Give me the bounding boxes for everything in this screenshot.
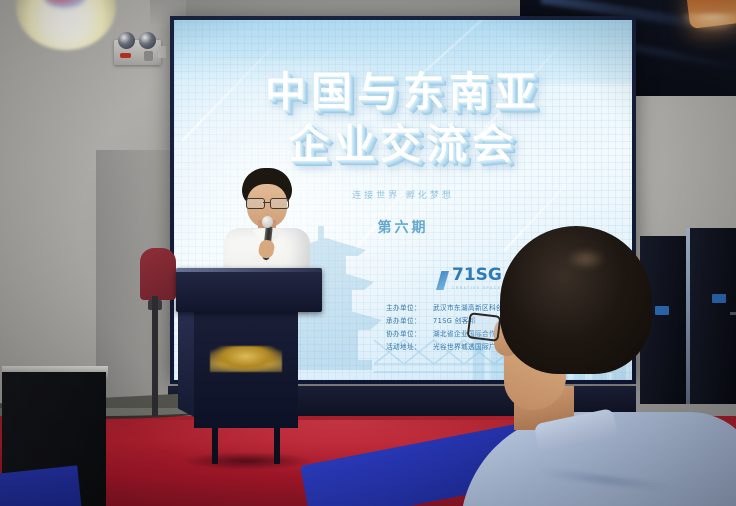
track-light-indicator	[120, 53, 131, 58]
track-light-mount	[158, 46, 166, 58]
track-light-head-right	[139, 32, 156, 49]
speaker-lens-left	[246, 198, 265, 209]
podium-leg	[212, 428, 218, 464]
track-light-button	[144, 51, 153, 61]
chair-maroon-left	[140, 248, 176, 300]
podium-desktop-highlight	[176, 268, 322, 272]
podium-leg	[274, 428, 280, 464]
chair-maroon-stem	[152, 296, 158, 416]
slide-title-line-1: 中国与东南亚	[174, 72, 632, 114]
slide-info-key: 协办单位：	[386, 328, 426, 341]
slide-info-key: 主办单位：	[386, 302, 426, 315]
logo-71sg-mark-icon	[436, 271, 449, 290]
audience-hair-highlight	[566, 248, 606, 270]
slide-info-key: 承办单位：	[386, 315, 426, 328]
speaker-lens-right	[270, 198, 289, 209]
chair-blue-foreground-left	[0, 465, 82, 506]
audience-eyeglasses-icon	[467, 312, 502, 342]
slide-info-key: 活动地址：	[386, 341, 426, 354]
pendant-light-glow	[682, 14, 736, 30]
speaker-eyeglasses-icon	[245, 198, 289, 207]
audience-member-foreground	[470, 226, 736, 506]
track-light-dual-head-icon	[114, 40, 161, 65]
slide-title-line-2: 企业交流会	[174, 124, 632, 166]
microphone-head-icon	[262, 216, 273, 228]
podium-gold-emblem-icon	[210, 346, 282, 372]
track-light-head-left	[118, 32, 135, 49]
conference-room-photo: 中国与东南亚 企业交流会 连接世界 孵化梦想 第六期 71SG CREATIVE…	[0, 0, 736, 506]
speaker-glasses-bridge	[263, 202, 270, 203]
podium-floor-shadow	[182, 452, 312, 470]
podium-desktop	[176, 268, 322, 312]
